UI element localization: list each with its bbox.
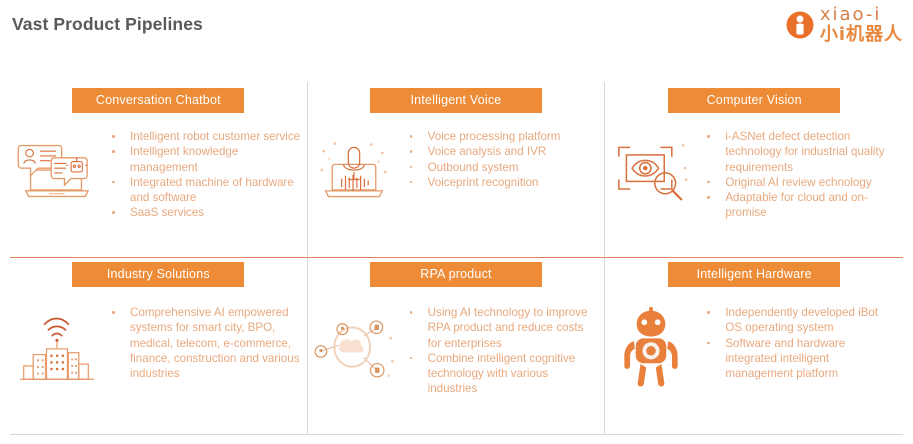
card-conversation-chatbot: Conversation Chatbot <box>10 82 308 258</box>
card-title: Conversation Chatbot <box>72 88 244 113</box>
card-title: Computer Vision <box>668 88 840 113</box>
card-intelligent-voice: Intelligent Voice <box>308 82 606 258</box>
card-body: Independently developed iBot OS operatin… <box>605 305 903 389</box>
list-item: Voice processing platform <box>402 129 599 144</box>
bottom-divider <box>10 434 903 435</box>
humanoid-robot-icon <box>609 305 693 389</box>
card-body: Voice processing platform Voice analysis… <box>308 129 605 213</box>
list-item: Comprehensive AI empowered systems for s… <box>104 305 301 381</box>
page-title: Vast Product Pipelines <box>12 14 203 35</box>
list-item: Software and hardware integrated intelli… <box>699 336 897 382</box>
list-item: Combine intelligent cognitive technology… <box>402 351 599 397</box>
list-item: Intelligent robot customer service <box>104 129 301 144</box>
list-item: Outbound system <box>402 160 599 175</box>
card-body: Using AI technology to improve RPA produ… <box>308 305 605 397</box>
card-title: Intelligent Voice <box>370 88 542 113</box>
laptop-chat-bubbles-icon <box>14 129 98 213</box>
list-item: Using AI technology to improve RPA produ… <box>402 305 599 351</box>
card-title: Industry Solutions <box>72 262 244 287</box>
card-rpa-product: RPA product <box>308 258 606 434</box>
list-item: SaaS services <box>104 205 301 220</box>
list-item: Voice analysis and IVR <box>402 144 599 159</box>
cloud-network-nodes-icon <box>312 305 396 389</box>
card-computer-vision: Computer Vision <box>605 82 903 258</box>
logo-wordmark: xiao-i 小i机器人 <box>820 6 903 44</box>
brand-logo: xiao-i 小i机器人 <box>785 6 903 44</box>
card-bullets: Comprehensive AI empowered systems for s… <box>98 305 301 381</box>
card-bullets: i-ASNet defect detection technology for … <box>693 129 897 221</box>
card-body: Comprehensive AI empowered systems for s… <box>10 305 307 389</box>
list-item: Independently developed iBot OS operatin… <box>699 305 897 336</box>
card-bullets: Voice processing platform Voice analysis… <box>396 129 599 190</box>
list-item: Intelligent knowledge management <box>104 144 301 175</box>
card-intelligent-hardware: Intelligent Hardware <box>605 258 903 434</box>
card-bullets: Intelligent robot customer service Intel… <box>98 129 301 221</box>
product-grid: Conversation Chatbot <box>10 82 903 434</box>
card-bullets: Using AI technology to improve RPA produ… <box>396 305 599 397</box>
card-title: RPA product <box>370 262 542 287</box>
logo-chinese-text: 小i机器人 <box>820 26 903 44</box>
card-bullets: Independently developed iBot OS operatin… <box>693 305 897 381</box>
list-item: Original AI review echnology <box>699 175 897 190</box>
circle-i-logo-icon <box>785 10 815 40</box>
card-body: i-ASNet defect detection technology for … <box>605 129 903 221</box>
card-body: Intelligent robot customer service Intel… <box>10 129 307 221</box>
laptop-microphone-icon <box>312 129 396 213</box>
list-item: Voiceprint recognition <box>402 175 599 190</box>
list-item: Adaptable for cloud and on-promise <box>699 190 897 221</box>
slide-root: Vast Product Pipelines xiao-i 小i机器人 Conv… <box>0 0 913 444</box>
city-wifi-icon <box>14 305 98 389</box>
list-item: i-ASNet defect detection technology for … <box>699 129 897 175</box>
card-title: Intelligent Hardware <box>668 262 840 287</box>
list-item: Integrated machine of hardware and softw… <box>104 175 301 206</box>
eye-scan-magnifier-icon <box>609 129 693 213</box>
card-industry-solutions: Industry Solutions <box>10 258 308 434</box>
logo-latin-text: xiao-i <box>820 6 903 24</box>
